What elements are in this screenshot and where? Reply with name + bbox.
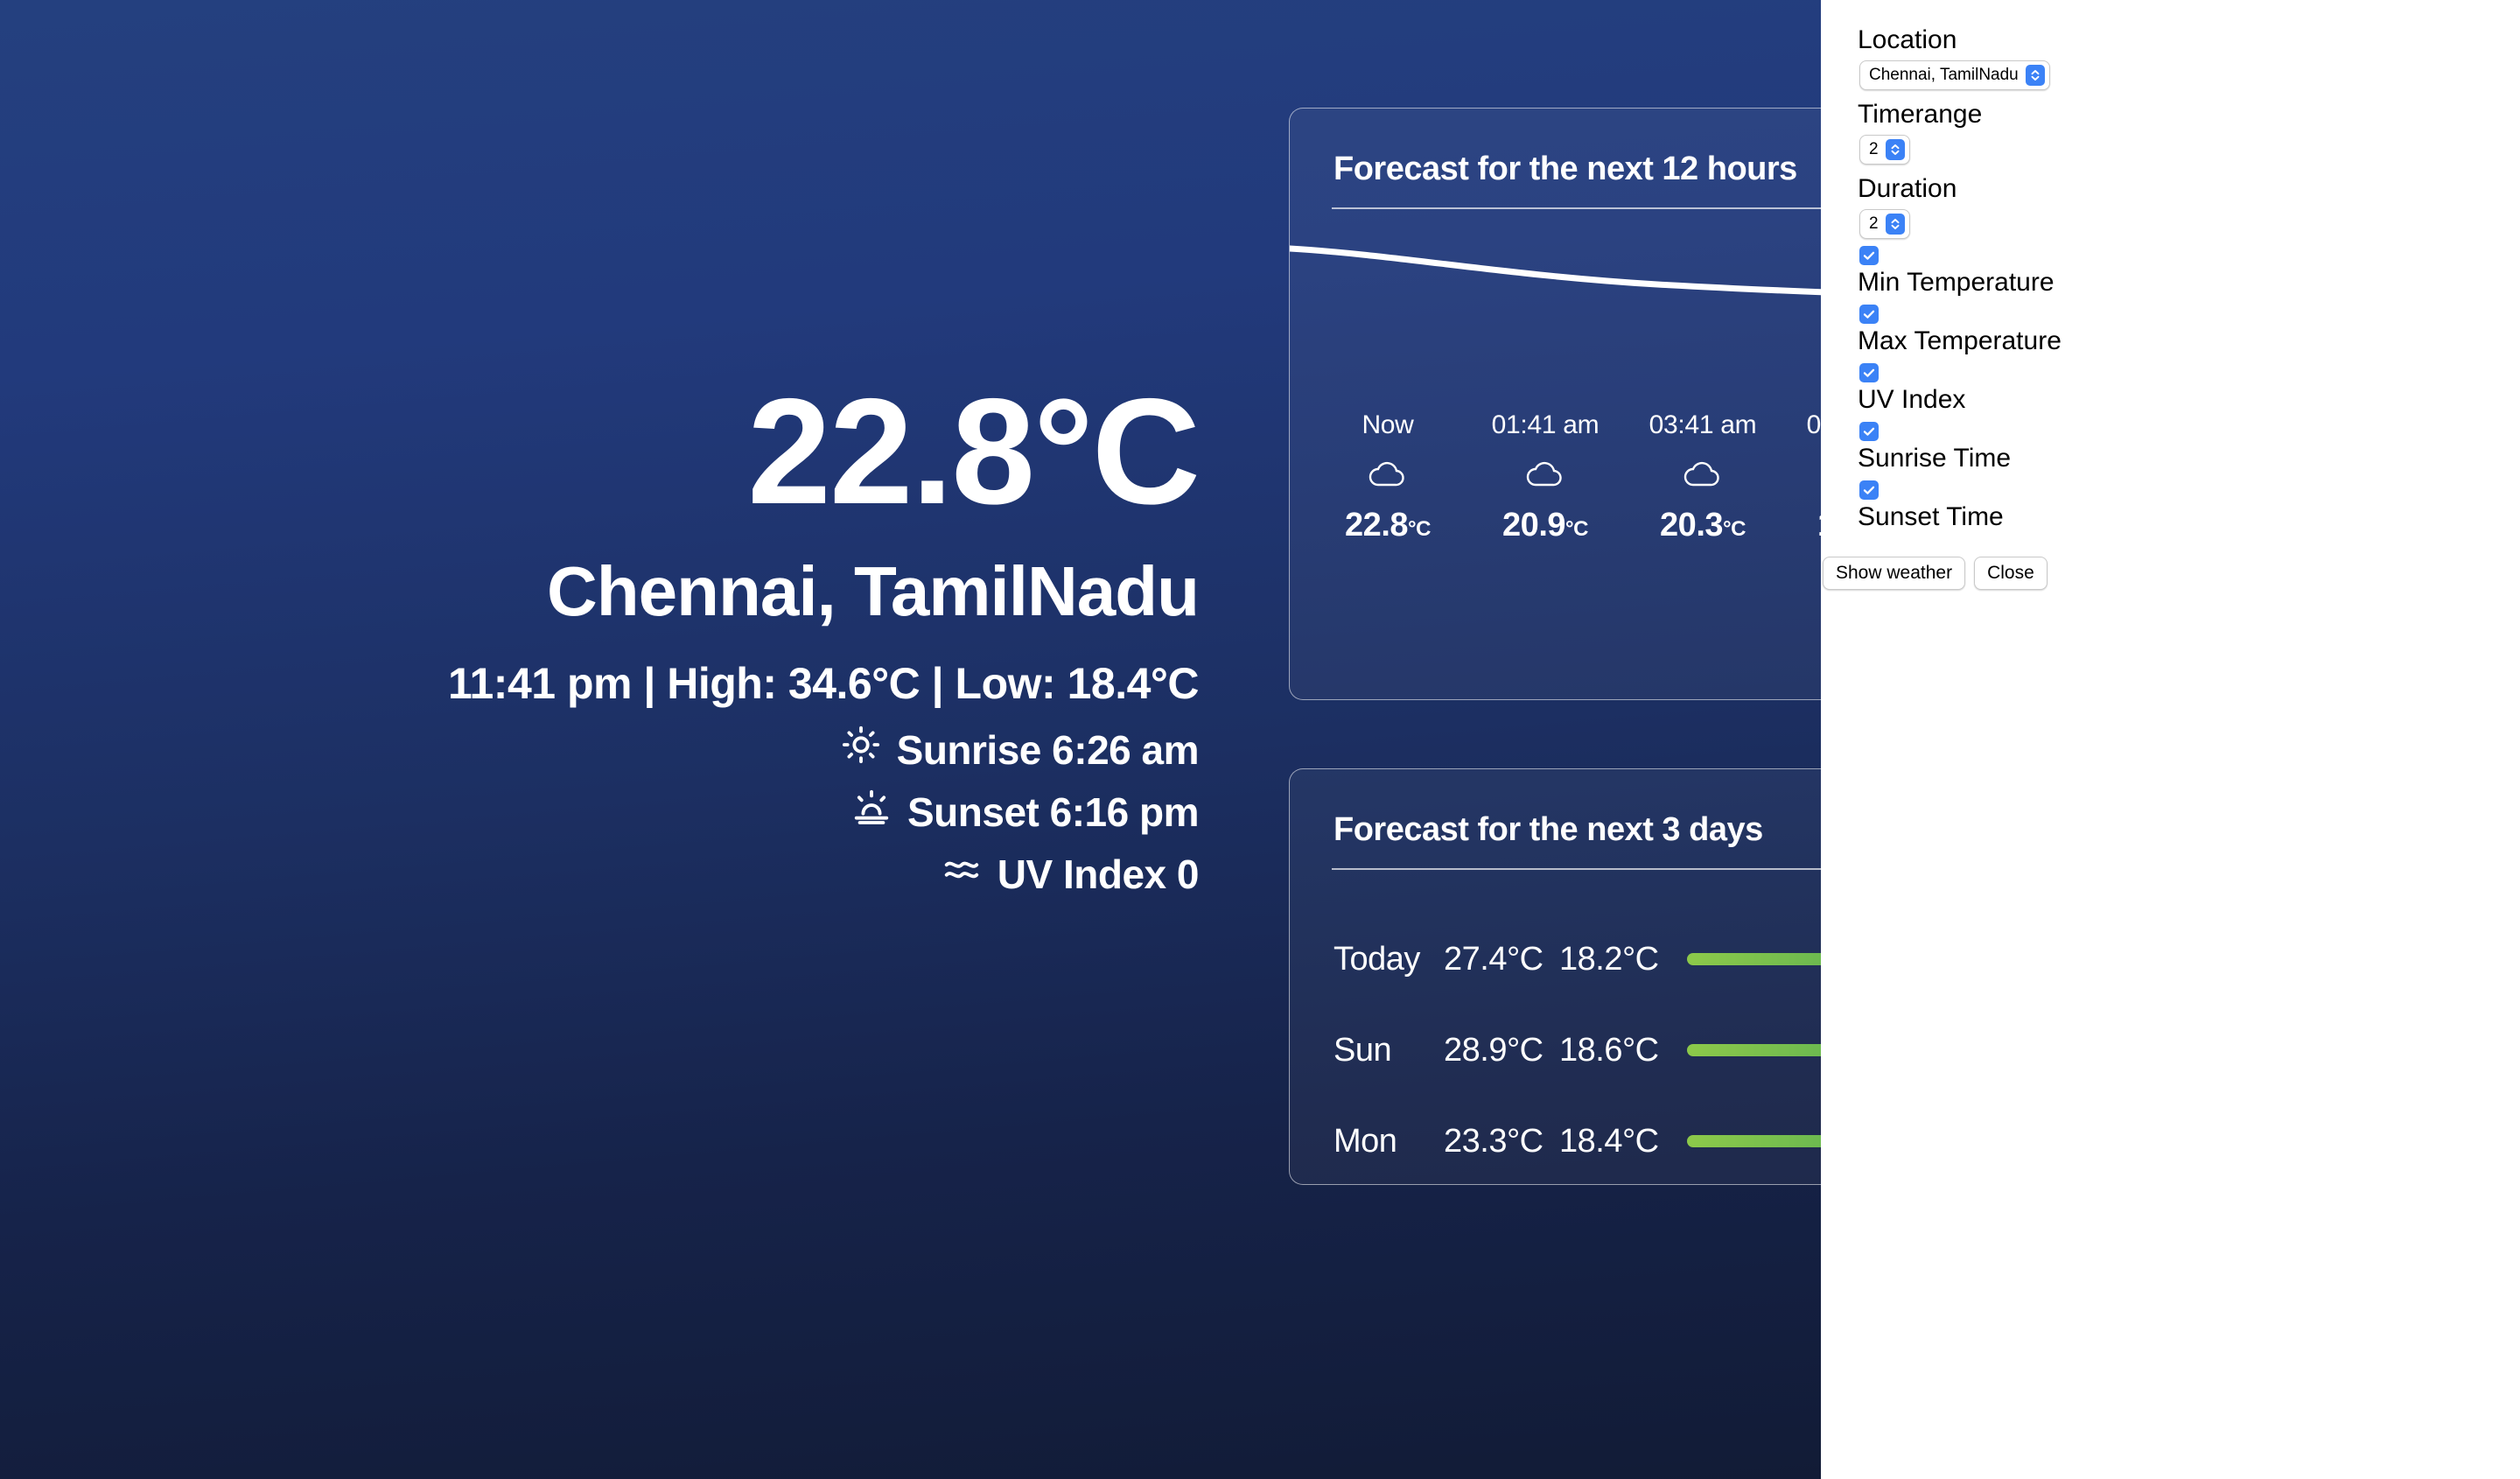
hour-temperature: 20.9°C: [1466, 507, 1624, 544]
day-max-temp: 27.4°C: [1444, 941, 1559, 978]
sunset-row: Sunset 6:16 pm: [0, 787, 1251, 837]
day-min-temp: 18.4°C: [1559, 1123, 1687, 1160]
panel-actions: Show weather Close: [1821, 557, 2520, 590]
uv-index-text: UV Index 0: [997, 851, 1199, 898]
location-select[interactable]: Chennai, TamilNadu: [1859, 60, 2050, 90]
hour-column: 01:41 am 20.9°C: [1466, 410, 1624, 544]
checkbox-min-temperature[interactable]: [1859, 246, 1879, 265]
timerange-select-value: 2: [1869, 140, 1879, 159]
sunrise-icon: [841, 725, 881, 775]
hour-temp-value: 20.3: [1660, 507, 1723, 543]
cloud-icon: [1682, 459, 1724, 489]
label-sunset-time: Sunset Time: [1821, 500, 2520, 534]
show-weather-button[interactable]: Show weather: [1823, 557, 1965, 590]
current-temperature: 22.8°C: [0, 376, 1251, 527]
hour-temperature: 20.3°C: [1624, 507, 1781, 544]
uv-waves-icon: [941, 849, 982, 899]
hour-temp-unit: °C: [1565, 517, 1588, 541]
checkbox-sunset-time[interactable]: [1859, 480, 1879, 500]
checkbox-max-temperature[interactable]: [1859, 305, 1879, 324]
uv-index-row: UV Index 0: [0, 849, 1251, 899]
hour-temp-value: 22.8: [1345, 507, 1408, 543]
hour-column: 03:41 am 20.3°C: [1624, 410, 1781, 544]
day-name: Mon: [1333, 1123, 1444, 1160]
duration-select[interactable]: 2: [1859, 209, 1910, 239]
close-button[interactable]: Close: [1974, 557, 2047, 590]
duration-label: Duration: [1821, 172, 2520, 206]
hour-temp-unit: °C: [1408, 517, 1431, 541]
hour-temperature: 22.8°C: [1309, 507, 1466, 544]
sunset-icon: [851, 787, 892, 837]
timerange-label: Timerange: [1821, 97, 2520, 131]
duration-select-value: 2: [1869, 214, 1879, 234]
label-max-temperature: Max Temperature: [1821, 324, 2520, 358]
label-min-temperature: Min Temperature: [1821, 265, 2520, 299]
hour-label: 01:41 am: [1466, 410, 1624, 440]
checkbox-sunrise-time[interactable]: [1859, 422, 1879, 441]
day-name: Sun: [1333, 1032, 1444, 1069]
weather-settings-panel: Location Chennai, TamilNadu Timerange 2 …: [1821, 0, 2520, 1479]
hour-temp-unit: °C: [1723, 517, 1746, 541]
day-max-temp: 23.3°C: [1444, 1123, 1559, 1160]
label-uv-index: UV Index: [1821, 382, 2520, 417]
checkbox-uv-index[interactable]: [1859, 363, 1879, 382]
location-select-value: Chennai, TamilNadu: [1869, 66, 2019, 85]
current-weather-hero: 22.8°C Chennai, TamilNadu 11:41 pm | Hig…: [0, 376, 1251, 911]
hour-column: Now 22.8°C: [1309, 410, 1466, 544]
timerange-select[interactable]: 2: [1859, 135, 1910, 165]
day-min-temp: 18.6°C: [1559, 1032, 1687, 1069]
hour-temp-value: 20.9: [1502, 507, 1565, 543]
hour-label: 03:41 am: [1624, 410, 1781, 440]
label-sunrise-time: Sunrise Time: [1821, 441, 2520, 475]
day-max-temp: 28.9°C: [1444, 1032, 1559, 1069]
cloud-icon: [1524, 459, 1566, 489]
weather-app-root: 22.8°C Chennai, TamilNadu 11:41 pm | Hig…: [0, 0, 2520, 1479]
chevron-updown-icon[interactable]: [1886, 214, 1905, 235]
location-label: Location: [1821, 23, 2520, 57]
chevron-updown-icon[interactable]: [1886, 139, 1905, 160]
day-name: Today: [1333, 941, 1444, 978]
day-min-temp: 18.2°C: [1559, 941, 1687, 978]
chevron-updown-icon[interactable]: [2026, 65, 2045, 86]
cloud-icon: [1367, 459, 1409, 489]
current-summary: 11:41 pm | High: 34.6°C | Low: 18.4°C: [0, 662, 1251, 705]
current-location: Chennai, TamilNadu: [0, 557, 1251, 627]
sunset-text: Sunset 6:16 pm: [907, 789, 1199, 836]
sunrise-row: Sunrise 6:26 am: [0, 725, 1251, 775]
sunrise-text: Sunrise 6:26 am: [897, 726, 1199, 774]
hour-label: Now: [1309, 410, 1466, 440]
